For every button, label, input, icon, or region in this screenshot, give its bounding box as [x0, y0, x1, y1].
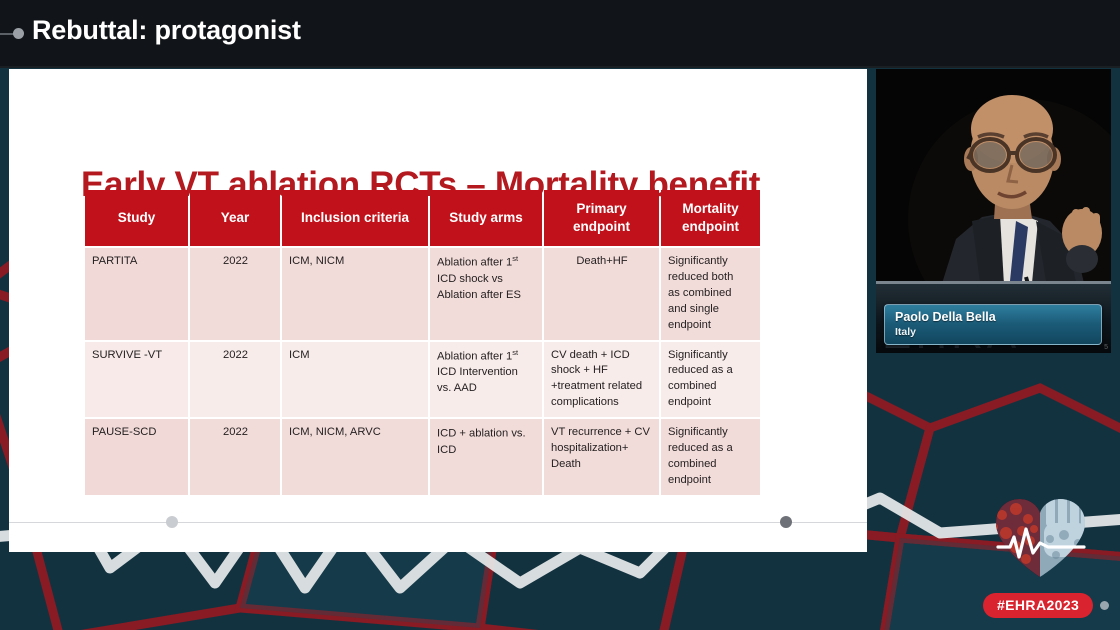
table-row: PAUSE-SCD 2022 ICM, NICM, ARVC ICD + abl…: [85, 419, 760, 495]
scrubber-marker-1[interactable]: [166, 516, 178, 528]
cell-inclusion: ICM, NICM, ARVC: [282, 419, 428, 495]
cell-primary: Death+HF: [544, 248, 659, 340]
slide-progress-scrubber[interactable]: [9, 521, 867, 524]
video-corner-mark: 5: [1104, 344, 1108, 351]
table-row: SURVIVE -VT 2022 ICM Ablation after 1st …: [85, 342, 760, 418]
speaker-nameplate: Paolo Della Bella Italy: [884, 304, 1102, 345]
cell-primary: CV death + ICD shock + HF +treatment rel…: [544, 342, 659, 418]
column-header-study: Study: [85, 190, 188, 246]
session-title: Rebuttal: protagonist: [32, 15, 301, 46]
column-header-inclusion: Inclusion criteria: [282, 190, 428, 246]
speaker-country: Italy: [895, 326, 1101, 339]
cell-inclusion: ICM: [282, 342, 428, 418]
cell-year: 2022: [190, 419, 280, 495]
table-row: PARTITA 2022 ICM, NICM Ablation after 1s…: [85, 248, 760, 340]
presentation-slide[interactable]: Early VT ablation RCTs – Mortality benef…: [9, 69, 867, 552]
cell-study: SURVIVE -VT: [85, 342, 188, 418]
session-header-bar: Rebuttal: protagonist: [0, 0, 1120, 68]
speaker-video-pane[interactable]: EHRA Paolo Della Bella Italy 5: [876, 69, 1111, 353]
column-header-primary: Primary endpoint: [544, 190, 659, 246]
bullet-dot-icon: [13, 28, 24, 39]
app-root: Rebuttal: protagonist: [0, 0, 1120, 630]
column-header-arms: Study arms: [430, 190, 542, 246]
table-header-row: Study Year Inclusion criteria Study arms…: [85, 190, 760, 246]
cell-year: 2022: [190, 248, 280, 340]
cell-year: 2022: [190, 342, 280, 418]
cell-arms: Ablation after 1st ICD Intervention vs. …: [430, 342, 542, 418]
column-header-year: Year: [190, 190, 280, 246]
trials-comparison-table: Study Year Inclusion criteria Study arms…: [83, 188, 762, 497]
cell-study: PAUSE-SCD: [85, 419, 188, 495]
scrubber-track[interactable]: [9, 522, 867, 523]
column-header-mortality: Mortality endpoint: [661, 190, 760, 246]
cell-primary: VT recurrence + CV hospitalization+ Deat…: [544, 419, 659, 495]
cell-inclusion: ICM, NICM: [282, 248, 428, 340]
cell-arms: ICD + ablation vs. ICD: [430, 419, 542, 495]
hashtag-side-dot: [1100, 601, 1109, 610]
scrubber-marker-2[interactable]: [780, 516, 792, 528]
podium-edge: [876, 281, 1111, 284]
speaker-name: Paolo Della Bella: [895, 310, 1101, 326]
cell-mortality: Significantly reduced as a combined endp…: [661, 419, 760, 495]
cell-arms: Ablation after 1st ICD shock vs Ablation…: [430, 248, 542, 340]
cell-study: PARTITA: [85, 248, 188, 340]
cell-mortality: Significantly reduced as a combined endp…: [661, 342, 760, 418]
cell-mortality: Significantly reduced both as combined a…: [661, 248, 760, 340]
heart-logo-icon: [988, 495, 1093, 580]
hashtag-badge: #EHRA2023: [983, 593, 1093, 618]
